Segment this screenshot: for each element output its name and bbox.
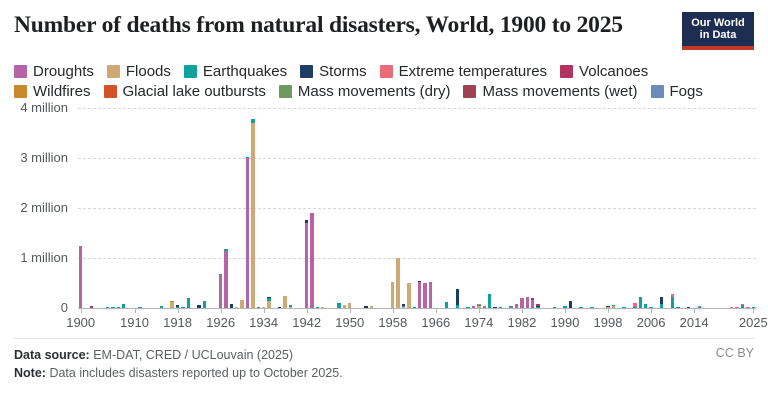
x-axis-tick-label: 1982 (507, 315, 536, 330)
bar-segment (79, 246, 82, 309)
legend-swatch-icon (380, 65, 393, 78)
legend-item-storms[interactable]: Storms (300, 63, 367, 80)
bar-stack[interactable] (418, 281, 421, 308)
chart-page: Number of deaths from natural disasters,… (0, 0, 768, 401)
bar-segment (283, 296, 286, 309)
bar-stack[interactable] (456, 289, 459, 308)
legend-swatch-icon (104, 85, 117, 98)
owid-logo[interactable]: Our World in Data (682, 12, 754, 50)
bar-stack[interactable] (531, 298, 534, 308)
bar-segment (660, 297, 663, 304)
legend-swatch-icon (107, 65, 120, 78)
x-axis-tick (436, 308, 437, 313)
x-axis-tick (81, 308, 82, 313)
bar-segment (310, 213, 313, 308)
legend-item-glacial-lake-outbursts[interactable]: Glacial lake outbursts (104, 83, 266, 100)
x-axis-tick (264, 308, 265, 313)
bar-segment (224, 251, 227, 308)
bar-stack[interactable] (569, 301, 572, 308)
bar-stack[interactable] (671, 294, 674, 309)
x-axis-tick-label: 1990 (551, 315, 580, 330)
bar-segment (423, 283, 426, 308)
owid-logo-line1: Our World (682, 17, 754, 29)
legend-item-earthquakes[interactable]: Earthquakes (184, 63, 287, 80)
bar-segment (569, 301, 572, 308)
bar-segment (246, 158, 249, 308)
bar-stack[interactable] (251, 119, 254, 308)
legend-swatch-icon (560, 65, 573, 78)
chart-footer: Data source: EM-DAT, CRED / UCLouvain (2… (14, 346, 754, 382)
x-axis: 1900191019181926193419421950195819661974… (78, 308, 756, 338)
bar-stack[interactable] (267, 297, 270, 309)
legend-swatch-icon (184, 65, 197, 78)
bar-stack[interactable] (170, 301, 173, 308)
legend-label: Mass movements (dry) (298, 83, 451, 100)
bar-stack[interactable] (240, 300, 243, 308)
data-source-label: Data source: (14, 348, 90, 362)
x-axis-tick (135, 308, 136, 313)
bar-segment (671, 297, 674, 309)
bar-stack[interactable] (224, 249, 227, 309)
bar-segment (639, 297, 642, 309)
bar-segment (418, 282, 421, 308)
x-axis-tick (565, 308, 566, 313)
bar-series-container (78, 108, 756, 308)
legend-label: Storms (319, 63, 367, 80)
bar-segment (391, 282, 394, 309)
chart-legend: DroughtsFloodsEarthquakesStormsExtreme t… (14, 61, 758, 101)
legend-swatch-icon (300, 65, 313, 78)
bar-segment (251, 123, 254, 308)
legend-swatch-icon (14, 65, 27, 78)
bar-stack[interactable] (396, 258, 399, 308)
x-axis-tick-label: 1998 (594, 315, 623, 330)
legend-item-floods[interactable]: Floods (107, 63, 171, 80)
legend-swatch-icon (279, 85, 292, 98)
legend-label: Extreme temperatures (399, 63, 547, 80)
x-axis-tick-label: 1966 (421, 315, 450, 330)
x-axis-tick (221, 308, 222, 313)
legend-label: Glacial lake outbursts (123, 83, 266, 100)
bar-segment (240, 300, 243, 308)
x-axis-tick (522, 308, 523, 313)
legend-label: Volcanoes (579, 63, 648, 80)
bar-stack[interactable] (639, 297, 642, 309)
x-axis-tick (651, 308, 652, 313)
note-text: Data includes disasters reported up to O… (49, 366, 342, 380)
x-axis-tick (393, 308, 394, 313)
y-axis: 01 million2 million3 million4 million (0, 108, 74, 308)
bar-stack[interactable] (310, 213, 313, 308)
bar-segment (187, 298, 190, 308)
bar-stack[interactable] (429, 282, 432, 308)
x-axis-tick (608, 308, 609, 313)
legend-item-fogs[interactable]: Fogs (651, 83, 703, 100)
owid-logo-line2: in Data (682, 29, 754, 41)
bar-segment (396, 258, 399, 308)
bar-segment (267, 301, 270, 308)
legend-label: Fogs (670, 83, 703, 100)
bar-stack[interactable] (660, 297, 663, 309)
bar-segment (526, 297, 529, 309)
x-axis-tick (753, 308, 754, 313)
y-axis-tick-label: 1 million (20, 250, 68, 265)
legend-label: Wildfires (33, 83, 91, 100)
x-axis-tick (307, 308, 308, 313)
x-axis-tick-label: 1918 (163, 315, 192, 330)
legend-item-volcanoes[interactable]: Volcanoes (560, 63, 648, 80)
x-axis-tick-label: 1950 (335, 315, 364, 330)
x-axis-tick-label: 1910 (120, 315, 149, 330)
plot-area: 01 million2 million3 million4 million 19… (0, 108, 768, 338)
x-axis-tick (350, 308, 351, 313)
bar-stack[interactable] (187, 298, 190, 308)
bar-segment (531, 300, 534, 309)
x-axis-tick-label: 1958 (378, 315, 407, 330)
x-axis-tick-label: 2006 (637, 315, 666, 330)
bar-stack[interactable] (391, 282, 394, 309)
bar-stack[interactable] (305, 220, 308, 308)
license-label[interactable]: CC BY (716, 346, 754, 360)
x-axis-tick-label: 1974 (464, 315, 493, 330)
bar-stack[interactable] (246, 157, 249, 308)
legend-item-mass-movements-dry[interactable]: Mass movements (dry) (279, 83, 451, 100)
legend-label: Droughts (33, 63, 94, 80)
bar-segment (520, 298, 523, 308)
chart-header: Number of deaths from natural disasters,… (14, 10, 754, 52)
x-axis-tick-label: 1900 (66, 315, 95, 330)
bar-segment (219, 275, 222, 308)
legend-swatch-icon (651, 85, 664, 98)
note-line: Note: Data includes disasters reported u… (14, 364, 754, 382)
y-axis-tick-label: 3 million (20, 150, 68, 165)
bar-stack[interactable] (219, 274, 222, 309)
page-title: Number of deaths from natural disasters,… (14, 10, 754, 40)
bar-stack[interactable] (526, 297, 529, 309)
bar-segment (407, 283, 410, 308)
bar-stack[interactable] (283, 296, 286, 309)
footer-divider (14, 338, 754, 339)
bar-stack[interactable] (203, 301, 206, 308)
legend-row: WildfiresGlacial lake outburstsMass move… (14, 81, 758, 101)
bar-segment (456, 289, 459, 305)
legend-label: Mass movements (wet) (482, 83, 637, 100)
x-axis-tick (694, 308, 695, 313)
data-source-line: Data source: EM-DAT, CRED / UCLouvain (2… (14, 346, 754, 364)
data-source-text[interactable]: EM-DAT, CRED / UCLouvain (2025) (93, 348, 293, 362)
x-axis-tick-label: 1942 (292, 315, 321, 330)
legend-swatch-icon (463, 85, 476, 98)
x-axis-tick (479, 308, 480, 313)
y-axis-tick-label: 2 million (20, 200, 68, 215)
legend-label: Earthquakes (203, 63, 287, 80)
legend-row: DroughtsFloodsEarthquakesStormsExtreme t… (14, 61, 758, 81)
bar-stack[interactable] (423, 283, 426, 308)
x-axis-tick-label: 2014 (680, 315, 709, 330)
legend-item-mass-movements-wet[interactable]: Mass movements (wet) (463, 83, 637, 100)
bar-segment (305, 223, 308, 308)
legend-item-extreme-temperatures[interactable]: Extreme temperatures (380, 63, 547, 80)
bar-stack[interactable] (488, 294, 491, 308)
bar-segment (203, 301, 206, 308)
x-axis-tick (178, 308, 179, 313)
bar-stack[interactable] (407, 283, 410, 308)
legend-label: Floods (126, 63, 171, 80)
x-axis-tick-label: 2025 (739, 315, 768, 330)
bar-stack[interactable] (79, 246, 82, 309)
y-axis-tick-label: 4 million (20, 100, 68, 115)
x-axis-tick-label: 1934 (249, 315, 278, 330)
legend-item-droughts[interactable]: Droughts (14, 63, 94, 80)
bar-stack[interactable] (520, 298, 523, 308)
y-axis-tick-label: 0 (61, 300, 68, 315)
legend-item-wildfires[interactable]: Wildfires (14, 83, 91, 100)
x-axis-tick-label: 1926 (206, 315, 235, 330)
note-label: Note: (14, 366, 46, 380)
legend-swatch-icon (14, 85, 27, 98)
bar-segment (488, 294, 491, 308)
bar-segment (429, 282, 432, 308)
